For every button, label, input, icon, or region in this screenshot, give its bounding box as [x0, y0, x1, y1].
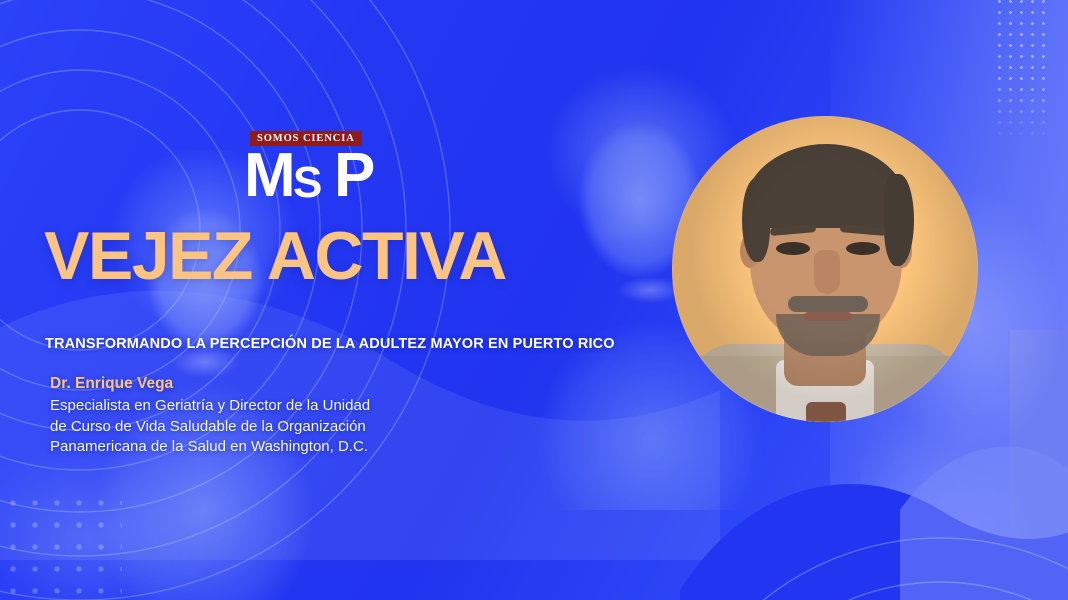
portrait-shading	[672, 116, 978, 422]
page-subtitle: TRANSFORMANDO LA PERCEPCIÓN DE LA ADULTE…	[45, 336, 615, 352]
speaker-role-line: Especialista en Geriatría y Director de …	[50, 396, 370, 417]
speaker-portrait-avatar	[672, 116, 978, 422]
speaker-name: Dr. Enrique Vega	[50, 374, 370, 395]
msp-letter-p: P	[334, 145, 372, 207]
msp-letter-s: S	[293, 161, 319, 205]
speaker-role-line: Panamericana de la Salud en Washington, …	[50, 437, 370, 458]
speaker-role-line: de Curso de Vida Saludable de la Organiz…	[50, 417, 370, 438]
page-title: VEJEZ ACTIVA	[44, 222, 506, 290]
msp-wordmark: M S P	[244, 147, 414, 205]
msp-letter-m: M	[244, 145, 293, 207]
msp-logo: SOMOS CIENCIA M S P	[244, 128, 414, 205]
promo-banner: SOMOS CIENCIA M S P VEJEZ ACTIVA TRANSFO…	[0, 0, 1068, 600]
speaker-credit: Dr. Enrique Vega Especialista en Geriatr…	[50, 374, 370, 458]
speaker-role: Especialista en Geriatría y Director de …	[50, 396, 370, 458]
